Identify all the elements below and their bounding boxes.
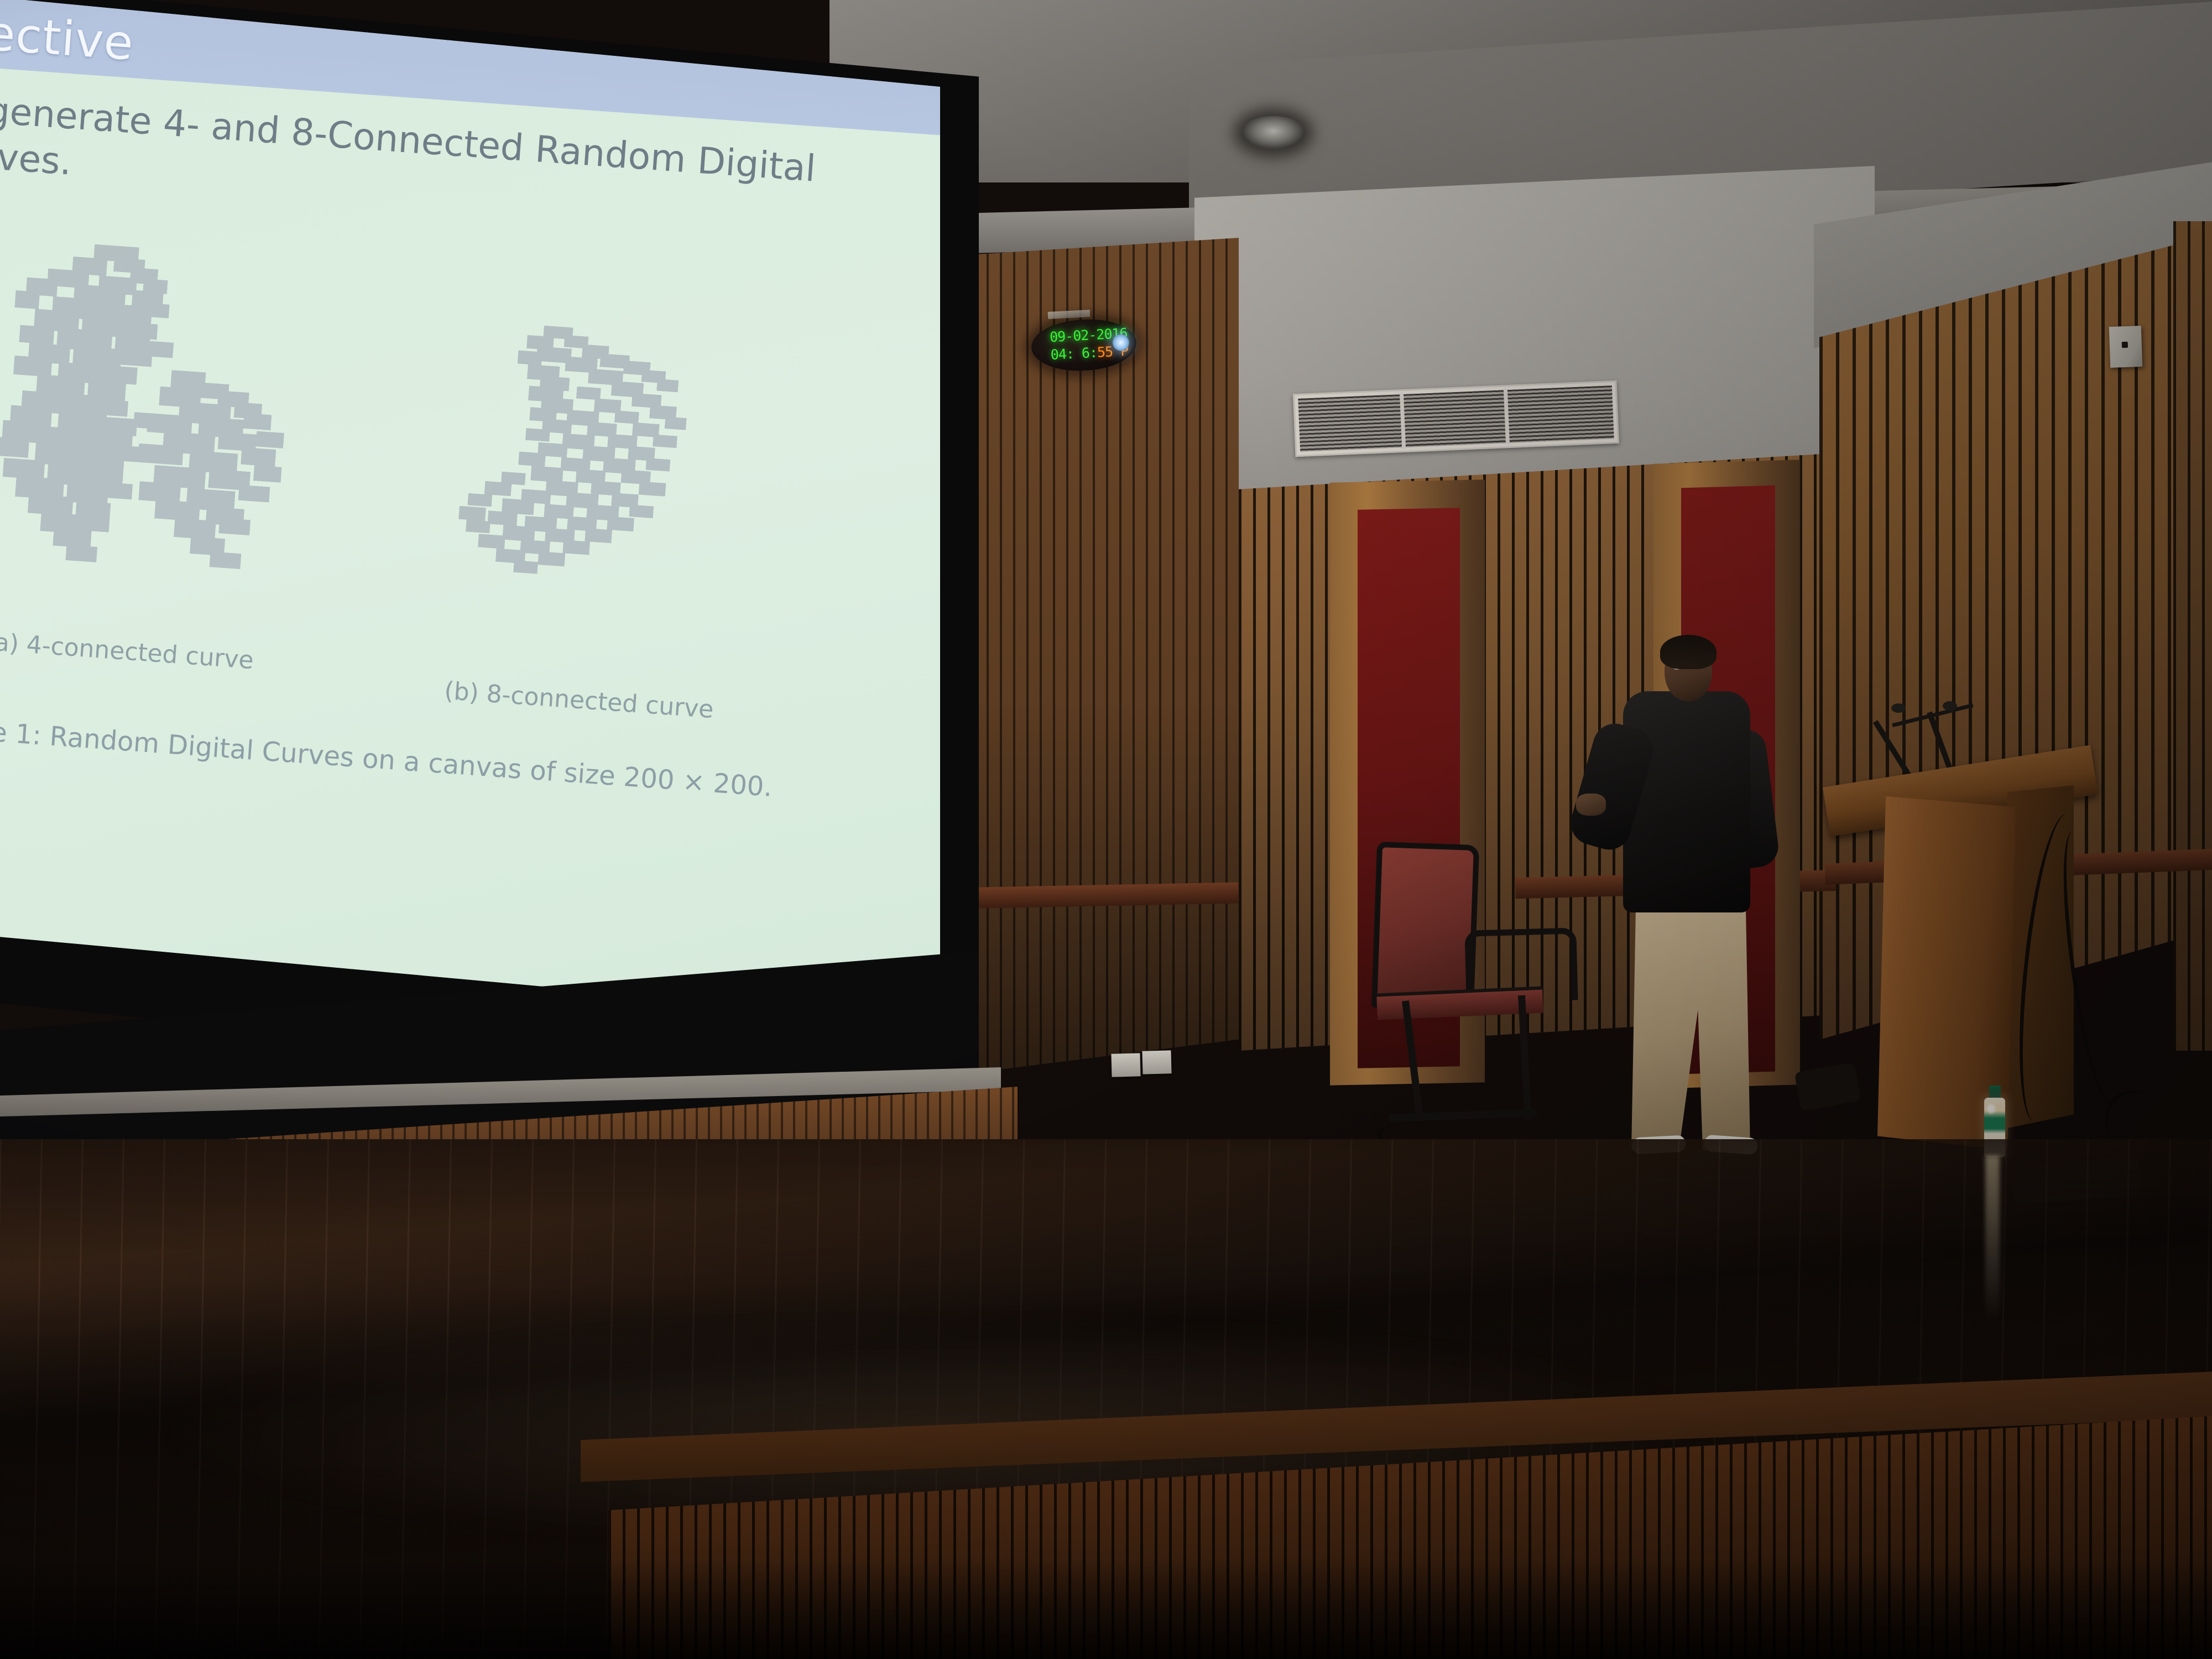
projector-screen: Objective Objective To generate 4- and 8…	[0, 0, 979, 1139]
presentation-slide: Objective Objective To generate 4- and 8…	[0, 0, 940, 1089]
microphone-icon[interactable]	[1943, 701, 1957, 711]
light-switch-plate[interactable]	[1111, 1053, 1140, 1077]
subfigure-caption-a: (a) 4-connected curve	[0, 628, 254, 675]
slide-body: To generate 4- and 8-Connected Random Di…	[0, 60, 940, 1089]
vent-slats	[1298, 385, 1614, 452]
bottle-floor-reflection	[1985, 1156, 2000, 1322]
light-switch-plate[interactable]	[1142, 1050, 1171, 1074]
presenter-left-hand	[1576, 794, 1606, 816]
wood-slat-wall-far-right	[2173, 221, 2212, 1051]
auditorium-photo: 09-02-2016 04: 6:55 P Objective Objectiv…	[0, 0, 2212, 1659]
ceiling-light-icon	[1241, 116, 1305, 149]
bottle-cap	[1989, 1086, 2001, 1099]
wall-sensor-box	[2109, 326, 2143, 368]
chair-base-rail	[1388, 1109, 1537, 1121]
microphone-icon[interactable]	[1891, 703, 1906, 713]
clock-time-value: 04: 6:	[1050, 345, 1098, 363]
screen-surface: Objective Objective To generate 4- and 8…	[0, 0, 940, 1089]
presenter-hair	[1660, 635, 1717, 669]
bottle-highlight	[1987, 1104, 1995, 1113]
figure-caption: Figure 1: Random Digital Curves on a can…	[0, 712, 773, 803]
presenter-trousers	[1631, 890, 1750, 1150]
subfigure-caption-b: (b) 8-connected curve	[444, 677, 714, 724]
equipment-bag	[1794, 1062, 1861, 1111]
presenter-torso	[1623, 691, 1750, 912]
chair-backrest[interactable]	[1371, 842, 1479, 1011]
bottom-vignette	[0, 1559, 2212, 1659]
figure-4-connected-curve	[0, 201, 333, 612]
figure-8-connected-curve	[435, 284, 721, 612]
